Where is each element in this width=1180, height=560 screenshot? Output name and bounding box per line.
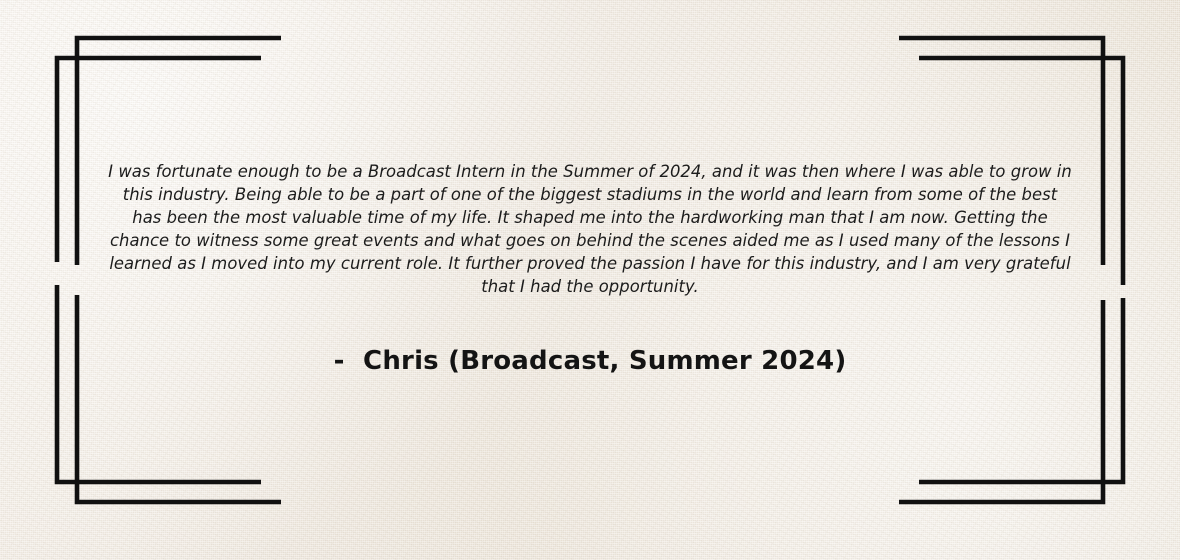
card-content: I was fortunate enough to be a Broadcast…	[0, 0, 1180, 560]
quote-text: I was fortunate enough to be a Broadcast…	[106, 160, 1074, 298]
quote-attribution: - Chris (Broadcast, Summer 2024)	[0, 344, 1180, 378]
testimonial-card: I was fortunate enough to be a Broadcast…	[0, 0, 1180, 560]
quote-block: I was fortunate enough to be a Broadcast…	[106, 160, 1074, 298]
